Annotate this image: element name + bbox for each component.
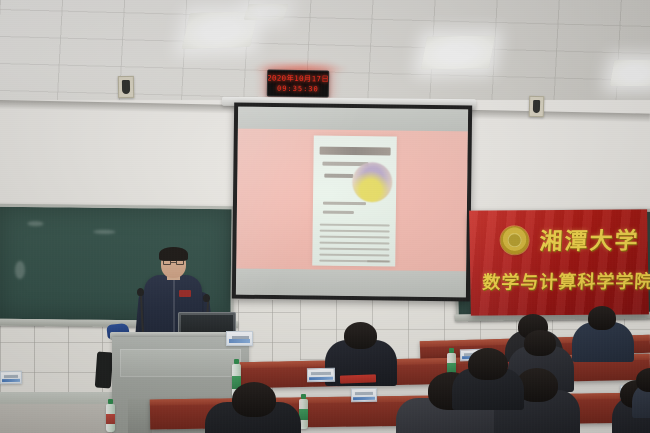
- chair: [95, 351, 113, 388]
- slide-body-text: [320, 224, 390, 261]
- led-time: 09:35:30: [277, 83, 319, 94]
- slide-speaker-line: [325, 174, 353, 178]
- glasses-icon: [163, 260, 184, 265]
- microphone-icon: [203, 294, 210, 302]
- name-card: [0, 371, 22, 384]
- presenter-badge: [179, 290, 191, 297]
- ceiling-light: [421, 35, 496, 69]
- red-folder: [340, 374, 376, 383]
- ceiling-light: [243, 4, 288, 20]
- name-card: [351, 388, 377, 402]
- screen-bottom-band: [236, 269, 466, 298]
- ceiling-light: [610, 60, 650, 86]
- led-clock: 2020年10月17日 09:35:30: [267, 69, 329, 97]
- name-card: [226, 331, 253, 346]
- banner-university-name: 湘潭大学: [539, 221, 641, 256]
- wall-speaker-icon: [529, 96, 545, 117]
- projected-slide: [236, 129, 468, 272]
- projection-screen: [232, 103, 472, 302]
- screen-surface: [236, 107, 468, 298]
- banner-school-name: 数学与计算科学学院: [482, 267, 643, 294]
- presenter-hair: [159, 247, 188, 261]
- slide-meta-line: [323, 211, 354, 214]
- slide-sheet: [312, 136, 396, 267]
- slide-meta-line: [323, 202, 366, 206]
- screen-top-band: [238, 107, 468, 132]
- water-bottle: [106, 404, 115, 432]
- name-card: [307, 368, 335, 382]
- lectern-leg: [128, 399, 152, 433]
- slide-title: [319, 147, 390, 156]
- slide-footer: [367, 260, 390, 262]
- university-emblem-icon: [500, 226, 528, 254]
- microphone-icon: [137, 288, 144, 296]
- presenter-jacket-zipper: [173, 280, 175, 338]
- wall-speaker-icon: [118, 76, 134, 98]
- slide-portrait-photo: [352, 162, 392, 202]
- lectern-front-panel: [120, 349, 241, 377]
- lecture-hall-photo: 2020年10月17日 09:35:30: [0, 0, 650, 433]
- red-banner: 湘潭大学 数学与计算科学学院: [469, 209, 649, 315]
